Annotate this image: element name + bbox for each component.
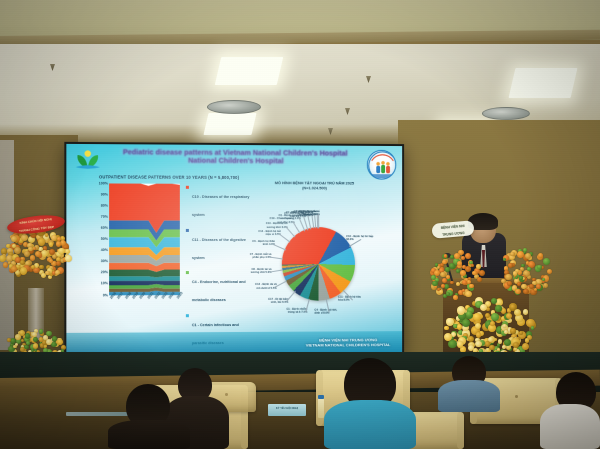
flower-blossom (434, 270, 440, 276)
area-chart-x-axis: 2016201720182019202020212022202320242025 (107, 296, 182, 311)
flower-blossom (471, 264, 474, 267)
flower-blossom (461, 256, 465, 260)
area-y-tick: 20% (101, 270, 108, 274)
flower-blossom (536, 284, 540, 288)
flower-blossom (15, 334, 21, 340)
legend-swatch-c10 (186, 186, 189, 189)
legend-swatch-c11 (186, 228, 189, 231)
flower-blossom (538, 253, 543, 258)
flower-blossom (38, 238, 45, 245)
flower-blossom (519, 276, 523, 280)
flower-blossom (476, 332, 482, 338)
flower-blossom (525, 338, 530, 343)
area-series-series-9 (109, 276, 180, 281)
flower-blossom (55, 270, 60, 275)
flower-blossom (476, 264, 481, 269)
legend-swatch-c4 (186, 271, 189, 274)
pie-leader-line-8 (273, 244, 286, 250)
conference-proceedings-book: KỶ YẾU HỘI NGHỊ (268, 404, 306, 416)
pie-title-line2: (N=1.024.500) (260, 186, 369, 191)
flower-blossom (498, 339, 502, 343)
flower-blossom (465, 291, 472, 298)
flower-blossom (446, 275, 450, 279)
ceiling-speaker (482, 107, 530, 120)
flower-blossom (547, 269, 552, 274)
flower-blossom (543, 258, 550, 265)
pie-label-8: C6 - Bệnh hệ thần kinh 4.0% (249, 240, 275, 246)
area-y-tick: 50% (101, 237, 108, 241)
flower-blossom (440, 272, 446, 278)
pie-label-18: C21 - Các yếu tố ảnh hưởng 0.4% (294, 210, 320, 216)
legend-item-c10: C10 - Diseases of the respiratory system (186, 185, 254, 221)
slide-title-line2: National Children's Hospital (99, 157, 371, 167)
pie-chart: MÔ HÌNH BỆNH TẬT NGOẠI TRÚ NĂM 2025 (N=1… (254, 181, 398, 317)
flower-blossom (446, 292, 450, 296)
audience-shoulders (540, 404, 600, 449)
flower-blossom (448, 340, 456, 348)
pie-leader-line-9 (279, 234, 290, 243)
flower-blossom (0, 255, 6, 262)
flower-blossom (457, 324, 462, 329)
pie-label-5: C12 - Bệnh da và mô dưới d 5.5% (251, 283, 277, 289)
flower-blossom (33, 343, 38, 348)
flower-blossom (39, 337, 44, 342)
flower-blossom (506, 313, 512, 319)
flower-blossom (65, 249, 70, 254)
flower-blossom (24, 251, 30, 257)
flower-blossom (41, 273, 46, 278)
flower-blossom (39, 265, 44, 270)
flower-blossom (510, 304, 516, 310)
pie-label-7: C7 - Bệnh mắt và phần phụ 4.5% (245, 253, 271, 259)
area-y-tick: 60% (101, 226, 108, 230)
ceiling-panel-light (509, 68, 578, 98)
flower-blossom (475, 341, 482, 348)
flower-blossom (489, 345, 495, 351)
water-bottle (318, 398, 324, 418)
pie-leader-line-18 (318, 214, 319, 228)
flower-blossom (523, 248, 527, 252)
flower-blossom (444, 326, 448, 330)
chair-wing-right (457, 412, 464, 449)
area-y-tick: 80% (101, 203, 108, 207)
area-y-tick: 70% (101, 215, 108, 219)
flower-blossom (56, 261, 61, 266)
audience-shoulders (108, 420, 190, 449)
slide-title: Pediatric disease patterns at Vietnam Na… (99, 148, 371, 166)
flower-blossom (477, 277, 482, 282)
flower-blossom (445, 267, 450, 272)
area-y-tick: 10% (101, 282, 108, 286)
flower-blossom (508, 263, 513, 268)
flower-blossom (57, 237, 61, 241)
floral-wreath-top (2, 228, 70, 280)
podium-flower-arrangement-left (430, 252, 482, 298)
area-chart-plot (109, 183, 180, 295)
flower-blossom (49, 242, 53, 246)
pie-chart-title: MÔ HÌNH BỆNH TẬT NGOẠI TRÚ NĂM 2025 (N=1… (260, 181, 369, 191)
ceiling-panel-light (203, 113, 256, 135)
pie-label-4: C17 - Dị tật bẩm sinh, biế 6.5% (262, 298, 288, 304)
flower-blossom (514, 309, 521, 316)
flower-blossom (467, 280, 471, 284)
area-chart-legend: C10 - Diseases of the respiratory system… (186, 185, 254, 355)
area-y-tick: 40% (101, 248, 108, 252)
legend-swatch-c1 (186, 314, 189, 317)
green-leaf-logo (75, 149, 101, 170)
flower-blossom (460, 270, 466, 276)
area-y-tick: 30% (101, 259, 108, 263)
water-bottle-cap (318, 395, 324, 399)
flower-blossom (21, 234, 28, 241)
flower-blossom (30, 255, 35, 260)
flower-blossom (33, 337, 38, 342)
conference-hall-photo: Pediatric disease patterns at Vietnam Na… (0, 0, 600, 449)
flower-blossom (503, 258, 506, 261)
stacked-area-chart: 100%90%80%70%60%50%40%30%20%10%0% 201620… (89, 182, 182, 311)
audience-shoulders (324, 400, 416, 449)
flower-blossom (515, 289, 521, 295)
ceiling-speaker (207, 100, 261, 114)
audience-shoulders (438, 380, 500, 412)
ceiling-panel-light (215, 57, 283, 85)
flower-blossom (446, 318, 454, 326)
flower-blossom (527, 267, 531, 271)
flower-blossom (442, 260, 447, 265)
flower-blossom (20, 260, 25, 265)
legend-label-c11: C11 - Diseases of the digestive system (192, 237, 246, 259)
flower-blossom (26, 341, 30, 345)
flower-blossom (468, 336, 474, 342)
pie-leader-line-10 (286, 227, 296, 238)
pie-label-6: C8 - Bệnh tai và xương chũ 5.0% (246, 268, 272, 274)
flower-blossom (15, 343, 18, 346)
flower-blossom (531, 326, 535, 330)
footer-line2: VIETNAM NATIONAL CHILDREN'S HOSPITAL (306, 342, 391, 347)
flower-blossom (35, 251, 41, 257)
flower-blossom (45, 233, 49, 237)
flower-blossom (521, 264, 524, 267)
flower-blossom (505, 274, 512, 281)
flower-blossom (479, 270, 485, 276)
pie-leader-line-11 (292, 222, 300, 234)
flower-blossom (457, 306, 465, 314)
presentation-slide: Pediatric disease patterns at Vietnam Na… (66, 144, 402, 355)
legend-label-c10: C10 - Diseases of the respiratory system (192, 195, 249, 217)
flower-blossom (450, 281, 454, 285)
flower-blossom (513, 342, 519, 348)
book-label: KỶ YẾU HỘI NGHỊ (268, 404, 306, 410)
flower-blossom (58, 248, 65, 255)
podium-flower-arrangement-front (446, 300, 536, 358)
area-y-tick: 90% (101, 192, 108, 196)
flower-blossom (14, 247, 21, 254)
projection-screen: Pediatric disease patterns at Vietnam Na… (64, 142, 404, 357)
flower-blossom (522, 343, 529, 350)
flower-blossom (456, 282, 460, 286)
flower-blossom (462, 280, 467, 285)
flower-blossom (504, 330, 508, 334)
pie-leader-line-4 (286, 291, 295, 302)
flower-blossom (465, 253, 471, 259)
flower-blossom (475, 323, 481, 329)
flower-blossom (444, 254, 447, 257)
pie-label-3: C1 - Bệnh nhiễm trùng và k 7.5% (282, 308, 308, 314)
childrens-hospital-logo (367, 150, 396, 180)
flower-blossom (65, 255, 72, 262)
flower-blossom (432, 281, 438, 287)
flower-blossom (465, 266, 471, 272)
flower-blossom (503, 324, 507, 328)
legend-item-c11: C11 - Diseases of the digestive system (186, 227, 254, 263)
area-chart-y-axis: 100%90%80%70%60%50%40%30%20%10%0% (89, 182, 109, 295)
flower-blossom (491, 298, 497, 304)
flower-blossom (46, 339, 52, 345)
flower-blossom (491, 313, 499, 321)
flower-blossom (11, 266, 17, 272)
flower-blossom (525, 253, 531, 259)
flower-blossom (534, 288, 537, 291)
flower-blossom (57, 339, 63, 345)
flower-blossom (56, 241, 61, 246)
flower-blossom (510, 328, 515, 333)
flower-blossom (517, 251, 524, 258)
legend-item-c4: C4 - Endocrine, nutritional and metaboli… (186, 270, 254, 306)
area-series-series-10 (109, 281, 180, 286)
table-light-strip (66, 412, 134, 416)
flower-blossom (480, 304, 487, 311)
flower-blossom (466, 311, 472, 317)
flower-blossom (457, 261, 462, 266)
area-y-tick: 100% (99, 181, 108, 185)
flower-blossom (510, 252, 515, 257)
flower-blossom (523, 309, 529, 315)
flower-blossom (20, 267, 27, 274)
flower-blossom (495, 305, 501, 311)
flower-blossom (462, 319, 470, 327)
pie-label-9: C14 - Bệnh hệ tiết niệu si 3.5% (255, 230, 281, 236)
legend-label-c4: C4 - Endocrine, nutritional and metaboli… (192, 280, 246, 302)
flower-blossom (439, 290, 443, 294)
flower-blossom (485, 313, 490, 318)
flower-blossom (502, 345, 506, 349)
slide-footer-text: BỆNH VIỆN NHI TRUNG ƯƠNG VIETNAM NATIONA… (306, 337, 391, 347)
podium-flower-arrangement-right (498, 250, 550, 296)
